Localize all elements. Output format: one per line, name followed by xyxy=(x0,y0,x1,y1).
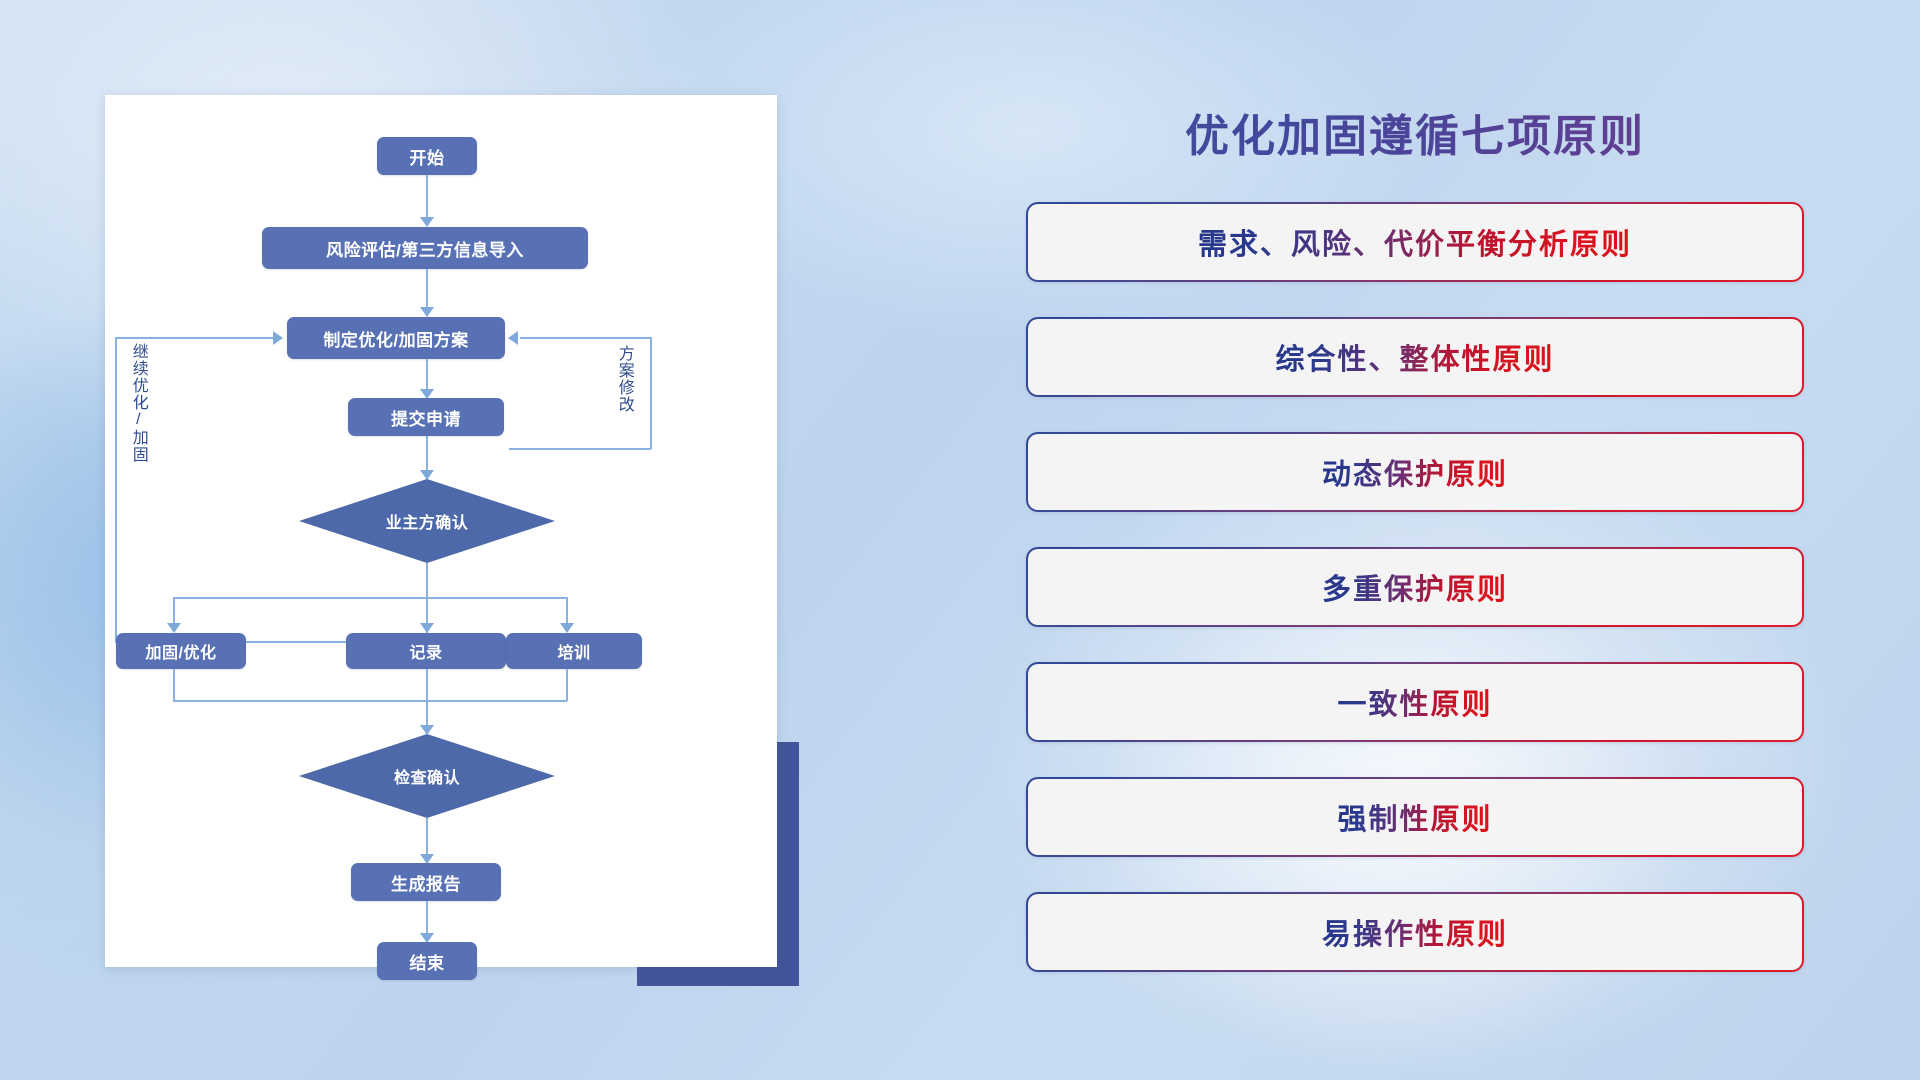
arrow-to-training xyxy=(560,623,574,633)
principle-item-6[interactable]: 强制性原则 xyxy=(1026,777,1804,857)
flow-node-risk[interactable]: 风险评估/第三方信息导入 xyxy=(262,227,588,269)
flow-label-plan-revision: 方案修改 xyxy=(615,345,632,413)
connector-record-down xyxy=(426,669,428,731)
arrow-risk-to-plan xyxy=(420,307,434,317)
arrow-loop-left-into-plan xyxy=(273,331,283,345)
arrow-to-reinforce xyxy=(167,623,181,633)
flow-node-record-label: 记录 xyxy=(409,639,442,663)
flow-decision-owner-confirm[interactable]: 业主方确认 xyxy=(299,479,555,563)
principle-label: 需求、风险、代价平衡分析原则 xyxy=(1198,221,1632,263)
principle-item-3[interactable]: 动态保护原则 xyxy=(1026,432,1804,512)
connector-start-to-risk xyxy=(426,175,428,223)
flow-decision-owner-confirm-label: 业主方确认 xyxy=(386,509,469,533)
flow-node-reinforce[interactable]: 加固/优化 xyxy=(116,633,246,669)
connector-training-down xyxy=(566,669,568,701)
flow-node-end[interactable]: 结束 xyxy=(377,942,477,980)
principle-label: 多重保护原则 xyxy=(1322,566,1508,608)
flow-label-continue-optimize-text: 继续优化/加固 xyxy=(130,343,147,463)
connector-loop-right-top xyxy=(520,337,651,339)
flow-node-end-label: 结束 xyxy=(410,949,445,974)
principles-title: 优化加固遵循七项原则 xyxy=(1020,100,1810,164)
connector-merge-bus xyxy=(173,700,567,702)
flowchart-diagram: 开始 风险评估/第三方信息导入 制定优化/加固方案 继续优化/加固 xyxy=(105,95,777,967)
principle-item-1[interactable]: 需求、风险、代价平衡分析原则 xyxy=(1026,202,1804,282)
arrow-loop-right-into-plan xyxy=(508,331,518,345)
flow-node-record[interactable]: 记录 xyxy=(346,633,506,669)
principle-label: 强制性原则 xyxy=(1337,796,1492,838)
flow-node-report-label: 生成报告 xyxy=(391,870,461,895)
flowchart-card: 开始 风险评估/第三方信息导入 制定优化/加固方案 继续优化/加固 xyxy=(105,95,777,967)
connector-loop-left-vertical xyxy=(115,337,117,642)
flow-node-plan[interactable]: 制定优化/加固方案 xyxy=(287,317,505,359)
connector-loop-right-vertical xyxy=(650,337,652,449)
principles-list: 需求、风险、代价平衡分析原则 综合性、整体性原则 动态保护原则 多重保护原则 一… xyxy=(1026,202,1804,1007)
principle-item-7[interactable]: 易操作性原则 xyxy=(1026,892,1804,972)
flow-node-report[interactable]: 生成报告 xyxy=(351,863,501,901)
flow-decision-inspect-label: 检查确认 xyxy=(394,764,460,788)
flow-node-training-label: 培训 xyxy=(557,639,590,663)
connector-loop-left-top xyxy=(115,337,273,339)
flow-label-plan-revision-text: 方案修改 xyxy=(616,345,633,413)
flow-node-reinforce-label: 加固/优化 xyxy=(146,639,217,663)
connector-reinforce-down xyxy=(173,669,175,701)
connector-owner-split-bus xyxy=(173,597,567,599)
flow-node-start-label: 开始 xyxy=(410,144,445,169)
principle-item-4[interactable]: 多重保护原则 xyxy=(1026,547,1804,627)
principle-label: 综合性、整体性原则 xyxy=(1275,336,1554,378)
principle-item-5[interactable]: 一致性原则 xyxy=(1026,662,1804,742)
connector-loop-right-bottom xyxy=(509,448,651,450)
flow-node-submit[interactable]: 提交申请 xyxy=(348,398,504,436)
flow-node-start[interactable]: 开始 xyxy=(377,137,477,175)
principles-panel: 优化加固遵循七项原则 需求、风险、代价平衡分析原则 综合性、整体性原则 动态保护… xyxy=(1020,90,1810,1020)
principle-item-2[interactable]: 综合性、整体性原则 xyxy=(1026,317,1804,397)
flow-decision-inspect[interactable]: 检查确认 xyxy=(299,734,555,818)
principle-label: 动态保护原则 xyxy=(1322,451,1508,493)
flow-label-continue-optimize: 继续优化/加固 xyxy=(129,343,146,463)
principle-label: 一致性原则 xyxy=(1337,681,1492,723)
flow-node-risk-label: 风险评估/第三方信息导入 xyxy=(326,236,524,261)
flow-node-training[interactable]: 培训 xyxy=(506,633,642,669)
flow-node-plan-label: 制定优化/加固方案 xyxy=(323,326,468,351)
arrow-start-to-risk xyxy=(420,217,434,227)
arrow-to-record xyxy=(420,623,434,633)
flow-node-submit-label: 提交申请 xyxy=(391,405,461,430)
slide-canvas: 开始 风险评估/第三方信息导入 制定优化/加固方案 继续优化/加固 xyxy=(0,0,1920,1080)
principle-label: 易操作性原则 xyxy=(1322,911,1508,953)
